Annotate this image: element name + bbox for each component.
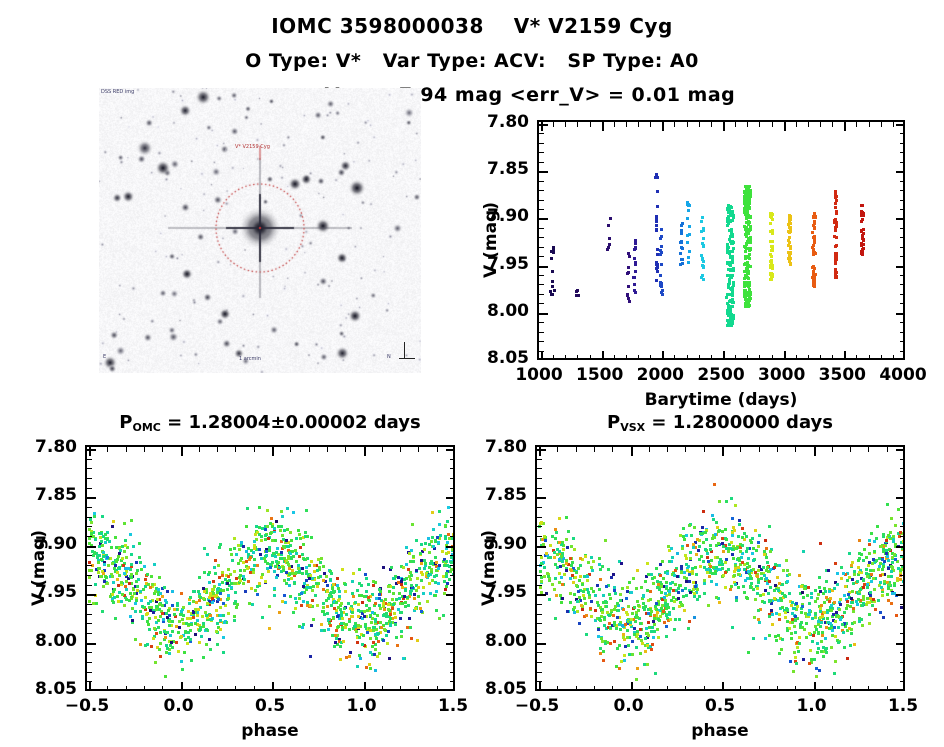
axis-minor-tick	[553, 355, 554, 360]
axis-tick	[844, 122, 846, 131]
axis-minor-tick	[850, 447, 851, 452]
data-point	[590, 556, 593, 559]
data-point	[689, 591, 692, 594]
data-point	[274, 555, 277, 558]
axis-minor-tick	[626, 122, 627, 127]
data-point	[771, 623, 774, 626]
data-point	[222, 614, 225, 617]
data-point	[697, 549, 700, 552]
axis-minor-tick	[450, 681, 455, 682]
data-point	[128, 582, 131, 585]
data-point	[209, 592, 212, 595]
data-point	[791, 601, 794, 604]
axis-minor-tick	[900, 478, 905, 479]
data-point	[112, 520, 115, 523]
axis-minor-tick	[900, 209, 905, 210]
axis-minor-tick	[309, 686, 310, 691]
data-point	[378, 652, 381, 655]
data-point	[596, 601, 599, 604]
data-point	[788, 236, 791, 239]
axis-minor-tick	[450, 517, 455, 518]
data-point	[655, 567, 658, 570]
data-point	[633, 633, 636, 636]
axis-minor-tick	[850, 686, 851, 691]
data-point	[190, 623, 193, 626]
data-point	[730, 241, 733, 244]
data-point	[145, 613, 148, 616]
axis-minor-tick	[235, 447, 236, 452]
data-point	[716, 526, 719, 529]
axis-minor-tick	[537, 526, 542, 527]
data-point	[674, 583, 677, 586]
axis-tick	[89, 682, 91, 691]
data-point	[129, 592, 132, 595]
data-point	[706, 556, 709, 559]
data-point	[773, 566, 776, 569]
data-point	[631, 653, 634, 656]
data-point	[729, 276, 732, 279]
compass-east-arrow	[399, 358, 415, 359]
data-point	[106, 538, 109, 541]
data-point	[626, 590, 629, 593]
axis-tick	[181, 682, 183, 691]
data-point	[438, 523, 441, 526]
data-point	[718, 561, 721, 564]
axis-minor-tick	[126, 686, 127, 691]
data-point	[205, 628, 208, 631]
data-point	[305, 579, 308, 582]
data-point	[159, 592, 162, 595]
data-point	[453, 524, 455, 527]
data-point	[265, 550, 268, 553]
data-point	[415, 539, 418, 542]
data-point	[793, 625, 796, 628]
data-point	[707, 604, 710, 607]
axis-minor-tick	[450, 575, 455, 576]
data-point	[818, 669, 821, 672]
data-point	[187, 610, 190, 613]
data-point	[842, 631, 845, 634]
axis-minor-tick	[614, 122, 615, 127]
data-point	[835, 212, 838, 215]
data-point	[860, 250, 863, 253]
data-point	[701, 257, 704, 260]
data-point	[410, 589, 413, 592]
data-point	[286, 507, 289, 510]
data-point	[850, 564, 853, 567]
data-point	[450, 561, 453, 564]
data-point	[749, 586, 752, 589]
data-point	[659, 615, 662, 618]
data-point	[615, 627, 618, 630]
data-point	[678, 618, 681, 621]
data-point	[91, 550, 94, 553]
data-point	[623, 659, 626, 662]
axis-minor-tick	[869, 355, 870, 360]
data-point	[602, 659, 605, 662]
axis-tick	[537, 594, 546, 596]
data-point	[397, 608, 400, 611]
axis-minor-tick	[626, 355, 627, 360]
data-point	[752, 637, 755, 640]
data-point	[268, 546, 271, 549]
x-tick-label: 0.0	[613, 696, 643, 716]
data-point	[769, 550, 772, 553]
data-point	[730, 541, 733, 544]
y-tick-label: 8.00	[35, 631, 77, 651]
data-point	[453, 546, 455, 549]
data-point	[700, 555, 703, 558]
data-point	[686, 201, 689, 204]
data-point	[577, 590, 580, 593]
data-point	[656, 190, 659, 193]
data-point	[116, 595, 119, 598]
x-tick-label: 2000	[637, 365, 684, 385]
data-point	[356, 665, 359, 668]
data-point	[742, 585, 745, 588]
data-point	[182, 606, 185, 609]
data-point	[687, 627, 690, 630]
axis-tick	[784, 122, 786, 131]
data-point	[566, 546, 569, 549]
phase-omc-plot-area[interactable]	[85, 445, 455, 691]
data-point	[599, 652, 602, 655]
data-point	[731, 517, 734, 520]
data-point	[813, 241, 816, 244]
data-point	[644, 580, 647, 583]
data-point	[862, 598, 865, 601]
data-point	[688, 225, 691, 228]
data-point	[698, 558, 701, 561]
data-point	[349, 651, 352, 654]
axis-minor-tick	[537, 681, 542, 682]
axis-minor-tick	[594, 686, 595, 691]
data-point	[785, 559, 788, 562]
data-point	[338, 595, 341, 598]
data-point	[899, 569, 902, 572]
data-point	[745, 267, 748, 270]
data-point	[835, 275, 838, 278]
data-point	[102, 585, 105, 588]
data-point	[417, 595, 420, 598]
data-point	[702, 245, 705, 248]
data-point	[777, 634, 780, 637]
data-point	[229, 548, 232, 551]
data-point	[539, 522, 542, 525]
data-point	[312, 585, 315, 588]
axis-tick	[539, 682, 541, 691]
axis-minor-tick	[537, 517, 542, 518]
phase-vsx-plot-area[interactable]	[535, 445, 905, 691]
data-point	[416, 639, 419, 642]
data-point	[747, 238, 750, 241]
data-point	[247, 580, 250, 583]
axis-minor-tick	[539, 332, 544, 333]
data-point	[834, 245, 837, 248]
data-point	[829, 597, 832, 600]
data-point	[227, 568, 230, 571]
data-point	[331, 634, 334, 637]
data-point	[813, 220, 816, 223]
data-point	[354, 601, 357, 604]
data-point	[729, 588, 732, 591]
axis-minor-tick	[685, 447, 686, 452]
data-point	[709, 548, 712, 551]
data-point	[625, 597, 628, 600]
data-point	[553, 551, 556, 554]
data-point	[727, 217, 730, 220]
data-point	[733, 574, 736, 577]
data-point	[432, 545, 435, 548]
data-point	[155, 605, 158, 608]
data-point	[216, 622, 219, 625]
data-point	[813, 235, 816, 238]
data-point	[812, 215, 815, 218]
data-point	[756, 587, 759, 590]
data-point	[451, 548, 454, 551]
data-point	[773, 597, 776, 600]
data-point	[810, 596, 813, 599]
data-point	[727, 261, 730, 264]
data-point	[588, 573, 591, 576]
data-point	[135, 572, 138, 575]
data-point	[700, 276, 703, 279]
data-point	[438, 617, 441, 620]
axis-minor-tick	[126, 447, 127, 452]
data-point	[682, 527, 685, 530]
data-point	[165, 631, 168, 634]
data-point	[710, 559, 713, 562]
data-point	[582, 590, 585, 593]
data-point	[798, 574, 801, 577]
data-point	[700, 254, 703, 257]
data-point	[111, 525, 114, 528]
data-point	[744, 579, 747, 582]
data-point	[392, 592, 395, 595]
axis-tick	[602, 351, 604, 360]
data-point	[357, 615, 360, 618]
data-point	[820, 640, 823, 643]
data-point	[420, 543, 423, 546]
data-point	[242, 582, 245, 585]
data-point	[446, 541, 449, 544]
data-point	[872, 598, 875, 601]
data-point	[287, 541, 290, 544]
data-point	[302, 585, 305, 588]
data-point	[304, 531, 307, 534]
data-point	[166, 647, 169, 650]
axis-minor-tick	[537, 623, 542, 624]
data-point	[437, 582, 440, 585]
data-point	[365, 590, 368, 593]
data-point	[868, 622, 871, 625]
axis-minor-tick	[539, 133, 544, 134]
data-point	[680, 603, 683, 606]
data-point	[730, 231, 733, 234]
data-point	[870, 580, 873, 583]
data-point	[770, 245, 773, 248]
data-point	[113, 596, 116, 599]
data-point	[860, 244, 863, 247]
data-point	[103, 563, 106, 566]
data-point	[401, 602, 404, 605]
data-point	[713, 483, 716, 486]
data-point	[429, 562, 432, 565]
data-point	[731, 298, 734, 301]
axis-minor-tick	[900, 190, 905, 191]
data-point	[636, 667, 639, 670]
x-tick-label: −0.5	[65, 696, 109, 716]
axis-minor-tick	[327, 686, 328, 691]
axis-minor-tick	[450, 488, 455, 489]
axis-tick	[602, 122, 604, 131]
data-point	[861, 624, 864, 627]
data-point	[553, 556, 556, 559]
data-point	[407, 604, 410, 607]
data-point	[166, 590, 169, 593]
data-point	[599, 578, 602, 581]
axis-minor-tick	[537, 585, 542, 586]
data-point	[95, 602, 98, 605]
data-point	[153, 627, 156, 630]
data-point	[839, 603, 842, 606]
data-point	[659, 563, 662, 566]
axis-minor-tick	[667, 447, 668, 452]
data-point	[651, 577, 654, 580]
data-point	[348, 655, 351, 658]
data-point	[320, 629, 323, 632]
data-point	[309, 604, 312, 607]
data-point	[295, 537, 298, 540]
data-point	[641, 642, 644, 645]
data-point	[805, 622, 808, 625]
x-tick-label: −0.5	[515, 696, 559, 716]
data-point	[413, 597, 416, 600]
data-point	[647, 621, 650, 624]
data-point	[322, 606, 325, 609]
data-point	[305, 570, 308, 573]
axis-minor-tick	[309, 447, 310, 452]
data-point	[157, 626, 160, 629]
data-point	[756, 592, 759, 595]
data-point	[233, 602, 236, 605]
data-point	[692, 546, 695, 549]
data-point	[361, 601, 364, 604]
data-point	[282, 569, 285, 572]
data-point	[445, 552, 448, 555]
data-point	[358, 568, 361, 571]
data-point	[851, 601, 854, 604]
data-point	[726, 251, 729, 254]
data-point	[387, 608, 390, 611]
data-point	[881, 568, 884, 571]
axis-tick	[722, 447, 724, 456]
data-point	[890, 575, 893, 578]
data-point	[235, 577, 238, 580]
data-point	[636, 600, 639, 603]
axis-minor-tick	[539, 284, 544, 285]
axis-tick	[87, 497, 96, 499]
data-point	[331, 587, 334, 590]
axis-minor-tick	[539, 190, 544, 191]
data-point	[357, 624, 360, 627]
data-point	[553, 588, 556, 591]
axis-minor-tick	[900, 152, 905, 153]
data-point	[149, 600, 152, 603]
data-point	[569, 601, 572, 604]
data-point	[789, 660, 792, 663]
data-point	[700, 220, 703, 223]
data-point	[382, 602, 385, 605]
data-point	[687, 209, 690, 212]
data-point	[378, 597, 381, 600]
data-point	[589, 607, 592, 610]
data-point	[560, 576, 563, 579]
data-point	[194, 622, 197, 625]
lightcurve-plot-area[interactable]	[537, 120, 905, 360]
data-point	[573, 593, 576, 596]
p-symbol-vsx: P	[607, 412, 620, 433]
data-point	[423, 559, 426, 562]
data-point	[741, 527, 744, 530]
data-point	[264, 528, 267, 531]
data-point	[602, 594, 605, 597]
data-point	[858, 620, 861, 623]
sky-finder-chart[interactable]: DSS RED img V* V2159 Cyg 1 arcmin E N	[99, 88, 421, 373]
data-point	[865, 603, 868, 606]
data-point	[161, 604, 164, 607]
data-point	[672, 589, 675, 592]
data-point	[870, 532, 873, 535]
data-point	[343, 607, 346, 610]
data-point	[816, 642, 819, 645]
data-point	[656, 270, 659, 273]
data-point	[639, 628, 642, 631]
data-point	[391, 598, 394, 601]
data-point	[554, 577, 557, 580]
data-point	[94, 538, 97, 541]
data-point	[135, 599, 138, 602]
data-point	[688, 233, 691, 236]
data-point	[747, 651, 750, 654]
data-point	[374, 633, 377, 636]
data-point	[639, 652, 642, 655]
data-point	[394, 616, 397, 619]
axis-minor-tick	[900, 294, 905, 295]
data-point	[637, 604, 640, 607]
axis-tick	[896, 218, 905, 220]
data-point	[845, 622, 848, 625]
data-point	[859, 588, 862, 591]
data-point	[851, 578, 854, 581]
data-point	[834, 202, 837, 205]
data-point	[843, 611, 846, 614]
data-point	[869, 591, 872, 594]
data-point	[590, 615, 593, 618]
data-point	[834, 206, 837, 209]
data-point	[90, 521, 93, 524]
axis-minor-tick	[345, 447, 346, 452]
data-point	[147, 623, 150, 626]
axis-tick	[662, 122, 664, 131]
data-point	[554, 563, 557, 566]
data-point	[822, 655, 825, 658]
data-point	[415, 569, 418, 572]
axis-minor-tick	[638, 355, 639, 360]
data-point	[887, 587, 890, 590]
data-point	[109, 595, 112, 598]
data-point	[576, 600, 579, 603]
